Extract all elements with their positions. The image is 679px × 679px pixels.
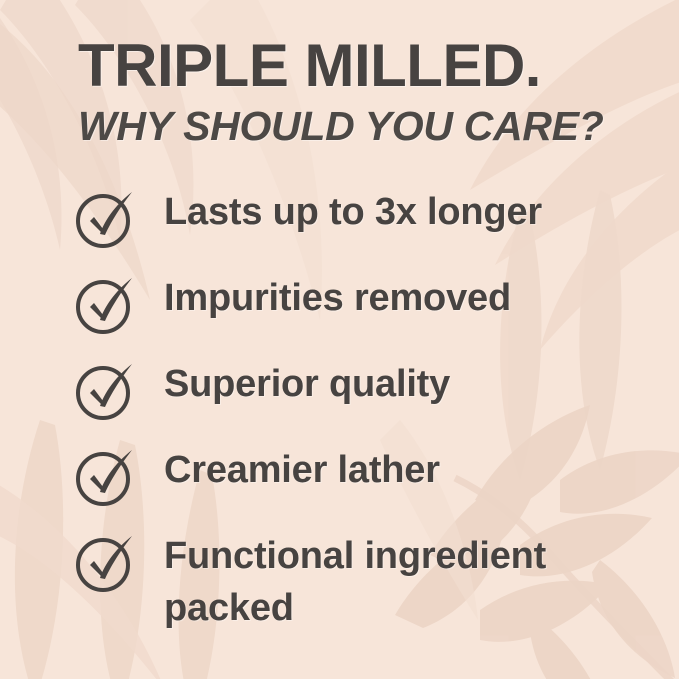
list-item-label: Lasts up to 3x longer <box>164 186 664 238</box>
benefit-list: Lasts up to 3x longer Impurities removed… <box>74 186 664 616</box>
list-item-label: Functional ingredient packed <box>164 530 664 634</box>
list-item-label: Superior quality <box>164 358 664 410</box>
check-circle-icon <box>74 188 136 250</box>
list-item: Impurities removed <box>74 272 664 358</box>
check-circle-icon <box>74 532 136 594</box>
list-item: Creamier lather <box>74 444 664 530</box>
list-item-label: Creamier lather <box>164 444 664 496</box>
product-benefits-poster: TRIPLE MILLED. WHY SHOULD YOU CARE? Last… <box>0 0 679 679</box>
list-item: Superior quality <box>74 358 664 444</box>
page-subtitle: WHY SHOULD YOU CARE? <box>78 106 604 147</box>
check-circle-icon <box>74 274 136 336</box>
poster-content: TRIPLE MILLED. WHY SHOULD YOU CARE? Last… <box>0 0 679 679</box>
check-circle-icon <box>74 446 136 508</box>
list-item-label: Impurities removed <box>164 272 664 324</box>
list-item: Lasts up to 3x longer <box>74 186 664 272</box>
page-title: TRIPLE MILLED. <box>78 36 541 96</box>
check-circle-icon <box>74 360 136 422</box>
list-item: Functional ingredient packed <box>74 530 664 616</box>
